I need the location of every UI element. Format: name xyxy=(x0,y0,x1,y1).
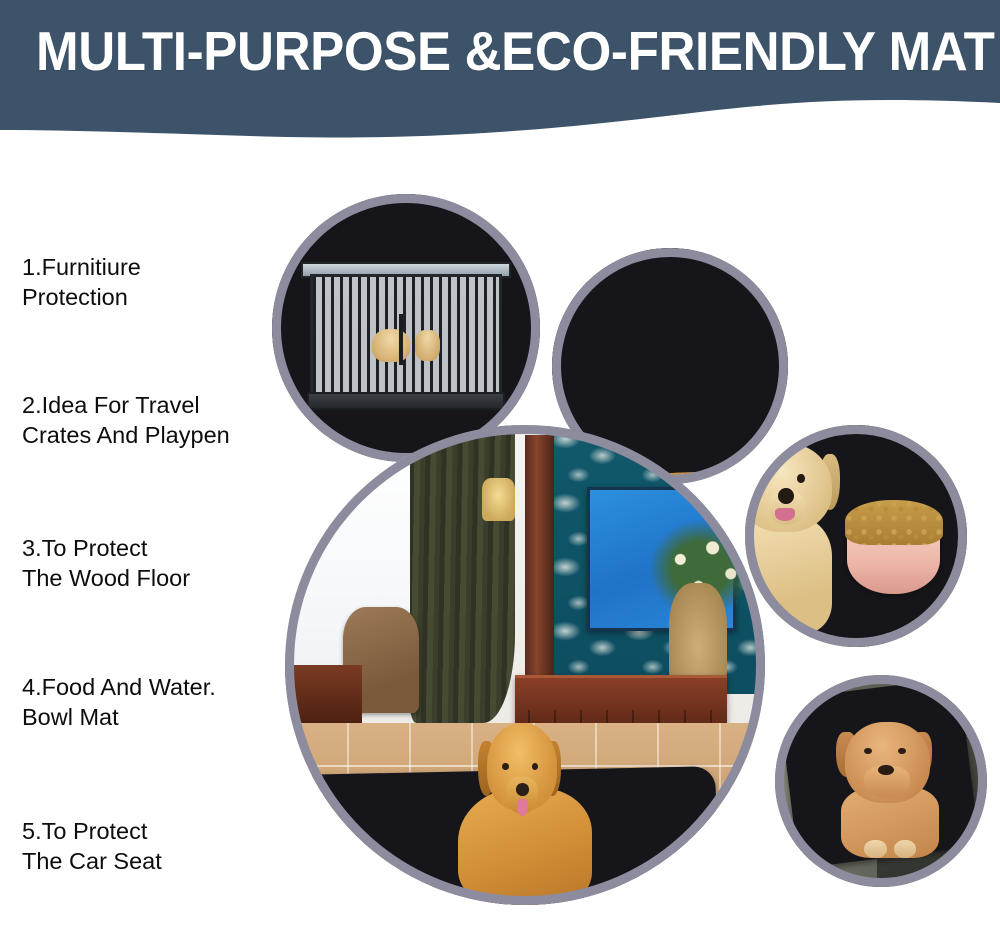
photo-crate xyxy=(272,194,540,462)
dog-nose xyxy=(878,765,894,776)
puppy-on-car-mat xyxy=(839,722,953,853)
crate-door-divider xyxy=(399,314,404,366)
photo-collage xyxy=(0,130,1000,946)
photo-car-seat xyxy=(775,675,987,887)
dog-nose xyxy=(516,783,529,796)
dog-in-crate-rear xyxy=(415,330,439,360)
kibble-pile xyxy=(845,500,943,544)
dog-mouth xyxy=(775,508,795,521)
product-infographic: MULTI-PURPOSE &ECO-FRIENDLY MAT 1.Furnit… xyxy=(0,0,1000,946)
crate-body xyxy=(310,274,503,397)
page-title: MULTI-PURPOSE &ECO-FRIENDLY MAT xyxy=(36,21,910,81)
dog-eye-right xyxy=(797,474,804,482)
dog-in-crate xyxy=(372,329,409,362)
photo-food-bowl xyxy=(745,425,967,647)
wood-column xyxy=(525,435,554,713)
wall-lamp xyxy=(482,478,516,521)
flower-vase xyxy=(669,583,727,689)
photo-living-room xyxy=(285,425,765,905)
dog-eye-left xyxy=(502,763,509,770)
dog-paw-left xyxy=(864,840,887,858)
dog-body xyxy=(745,517,832,633)
window-curtain xyxy=(410,425,516,723)
crate-base xyxy=(307,392,505,409)
dog-nose xyxy=(778,488,794,505)
header-banner: MULTI-PURPOSE &ECO-FRIENDLY MAT xyxy=(0,0,1000,140)
dog-tongue xyxy=(517,799,528,815)
golden-retriever-on-mat xyxy=(458,723,592,905)
dog-eye-left xyxy=(760,474,767,482)
golden-retriever-at-bowl xyxy=(745,443,847,629)
coffee-table xyxy=(285,665,362,723)
